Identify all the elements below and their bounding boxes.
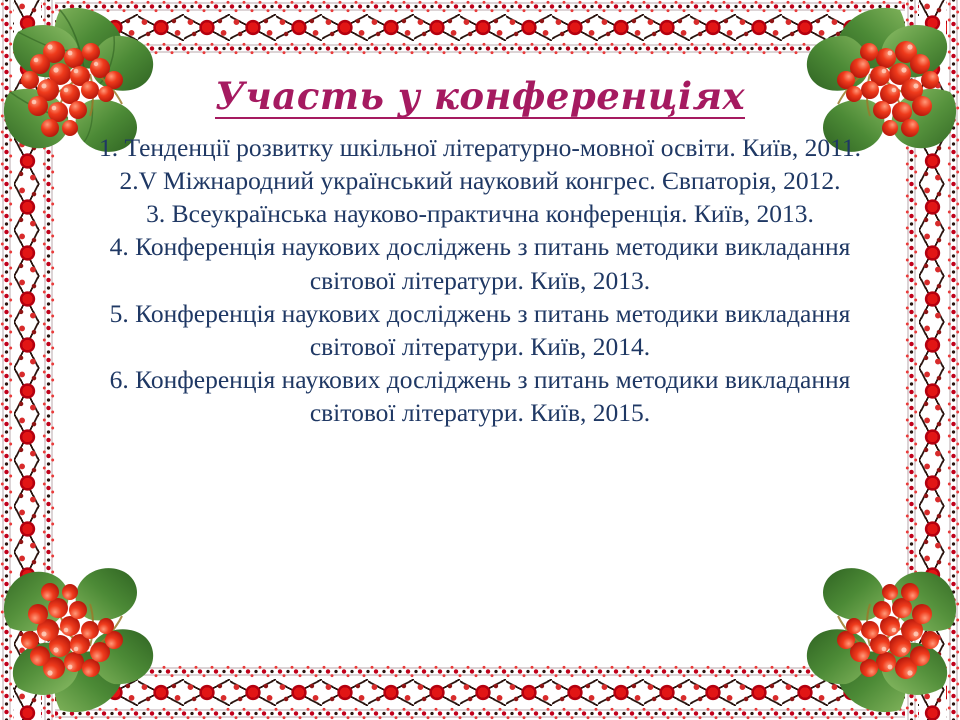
- list-item: 6. Конференція наукових досліджень з пит…: [58, 363, 902, 429]
- list-item: 5. Конференція наукових досліджень з пит…: [58, 297, 902, 363]
- slide: Участь у конференціях 1. Тенденції розви…: [0, 0, 960, 720]
- list-item: 2.V Міжнародний український науковий кон…: [58, 164, 902, 197]
- slide-content: Участь у конференціях 1. Тенденції розви…: [58, 78, 902, 429]
- border-band-top-inner: [0, 42, 960, 55]
- border-band-bottom-inner: [0, 665, 960, 678]
- border-band-left-outer: [0, 0, 13, 720]
- border-band-top-rose: [0, 14, 960, 41]
- list-item: 1. Тенденції розвитку шкільної літератур…: [58, 131, 902, 164]
- page-title: Участь у конференціях: [215, 78, 745, 119]
- list-item: 3. Всеукраїнська науково-практична конфе…: [58, 197, 902, 230]
- border-band-left-rose: [14, 0, 41, 720]
- border-band-right-inner: [905, 0, 918, 720]
- border-band-bottom-rose: [0, 679, 960, 706]
- border-band-right-rose: [919, 0, 946, 720]
- conference-list: 1. Тенденції розвитку шкільної літератур…: [58, 131, 902, 429]
- list-item: 4. Конференція наукових досліджень з пит…: [58, 230, 902, 296]
- border-band-bottom-outer: [0, 707, 960, 720]
- border-band-top-outer: [0, 0, 960, 13]
- border-band-left-inner: [42, 0, 55, 720]
- border-band-right-outer: [947, 0, 960, 720]
- page-title-wrap: Участь у конференціях: [58, 78, 902, 125]
